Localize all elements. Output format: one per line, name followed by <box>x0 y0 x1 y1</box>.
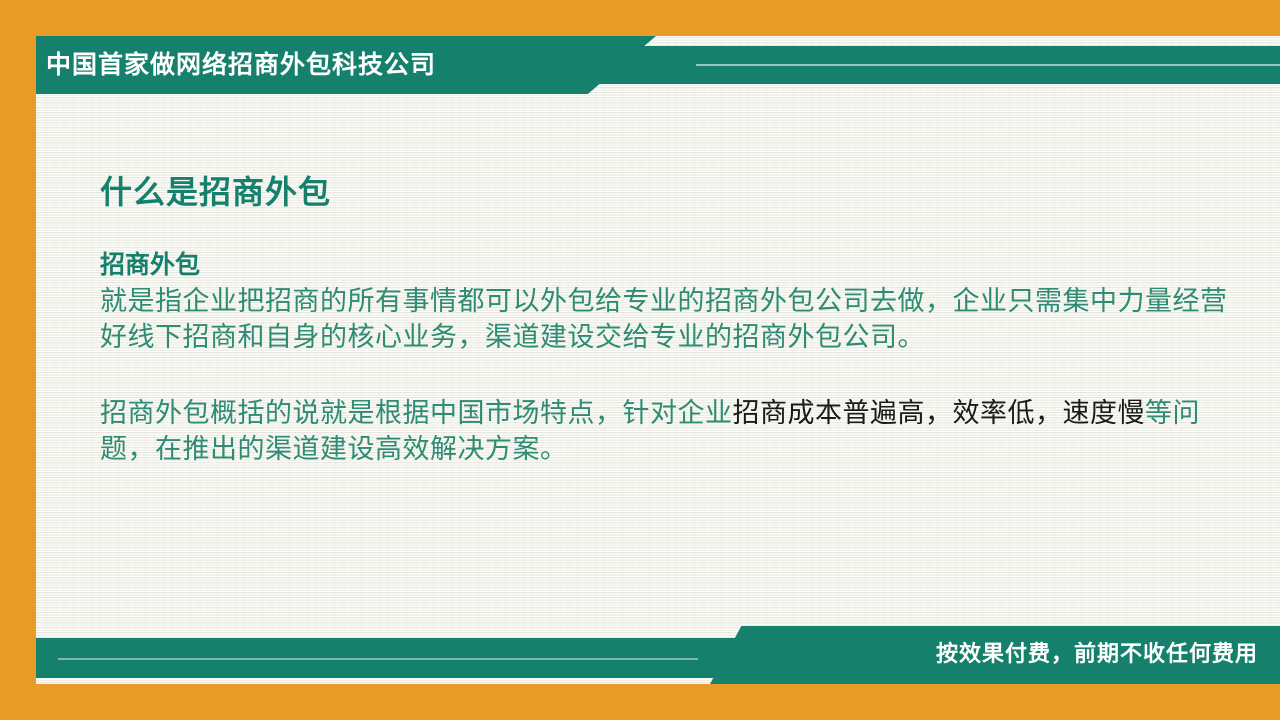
slide-canvas: 中国首家做网络招商外包科技公司 什么是招商外包 招商外包 就是指企业把招商的所有… <box>0 0 1280 720</box>
summary-paragraph: 招商外包概括的说就是根据中国市场特点，针对企业招商成本普遍高，效率低，速度慢等问… <box>100 396 1240 468</box>
lead-term-label: 招商外包 <box>100 248 1240 282</box>
slide-content: 什么是招商外包 招商外包 就是指企业把招商的所有事情都可以外包给专业的招商外包公… <box>100 170 1240 468</box>
summary-emphasis: 招商成本普遍高，效率低，速度慢 <box>733 398 1146 429</box>
summary-part-one: 招商外包概括的说就是根据中国市场特点，针对企业 <box>100 398 733 429</box>
definition-paragraph: 就是指企业把招商的所有事情都可以外包给专业的招商外包公司去做，企业只需集中力量经… <box>100 284 1240 356</box>
section-heading: 什么是招商外包 <box>100 170 1240 214</box>
